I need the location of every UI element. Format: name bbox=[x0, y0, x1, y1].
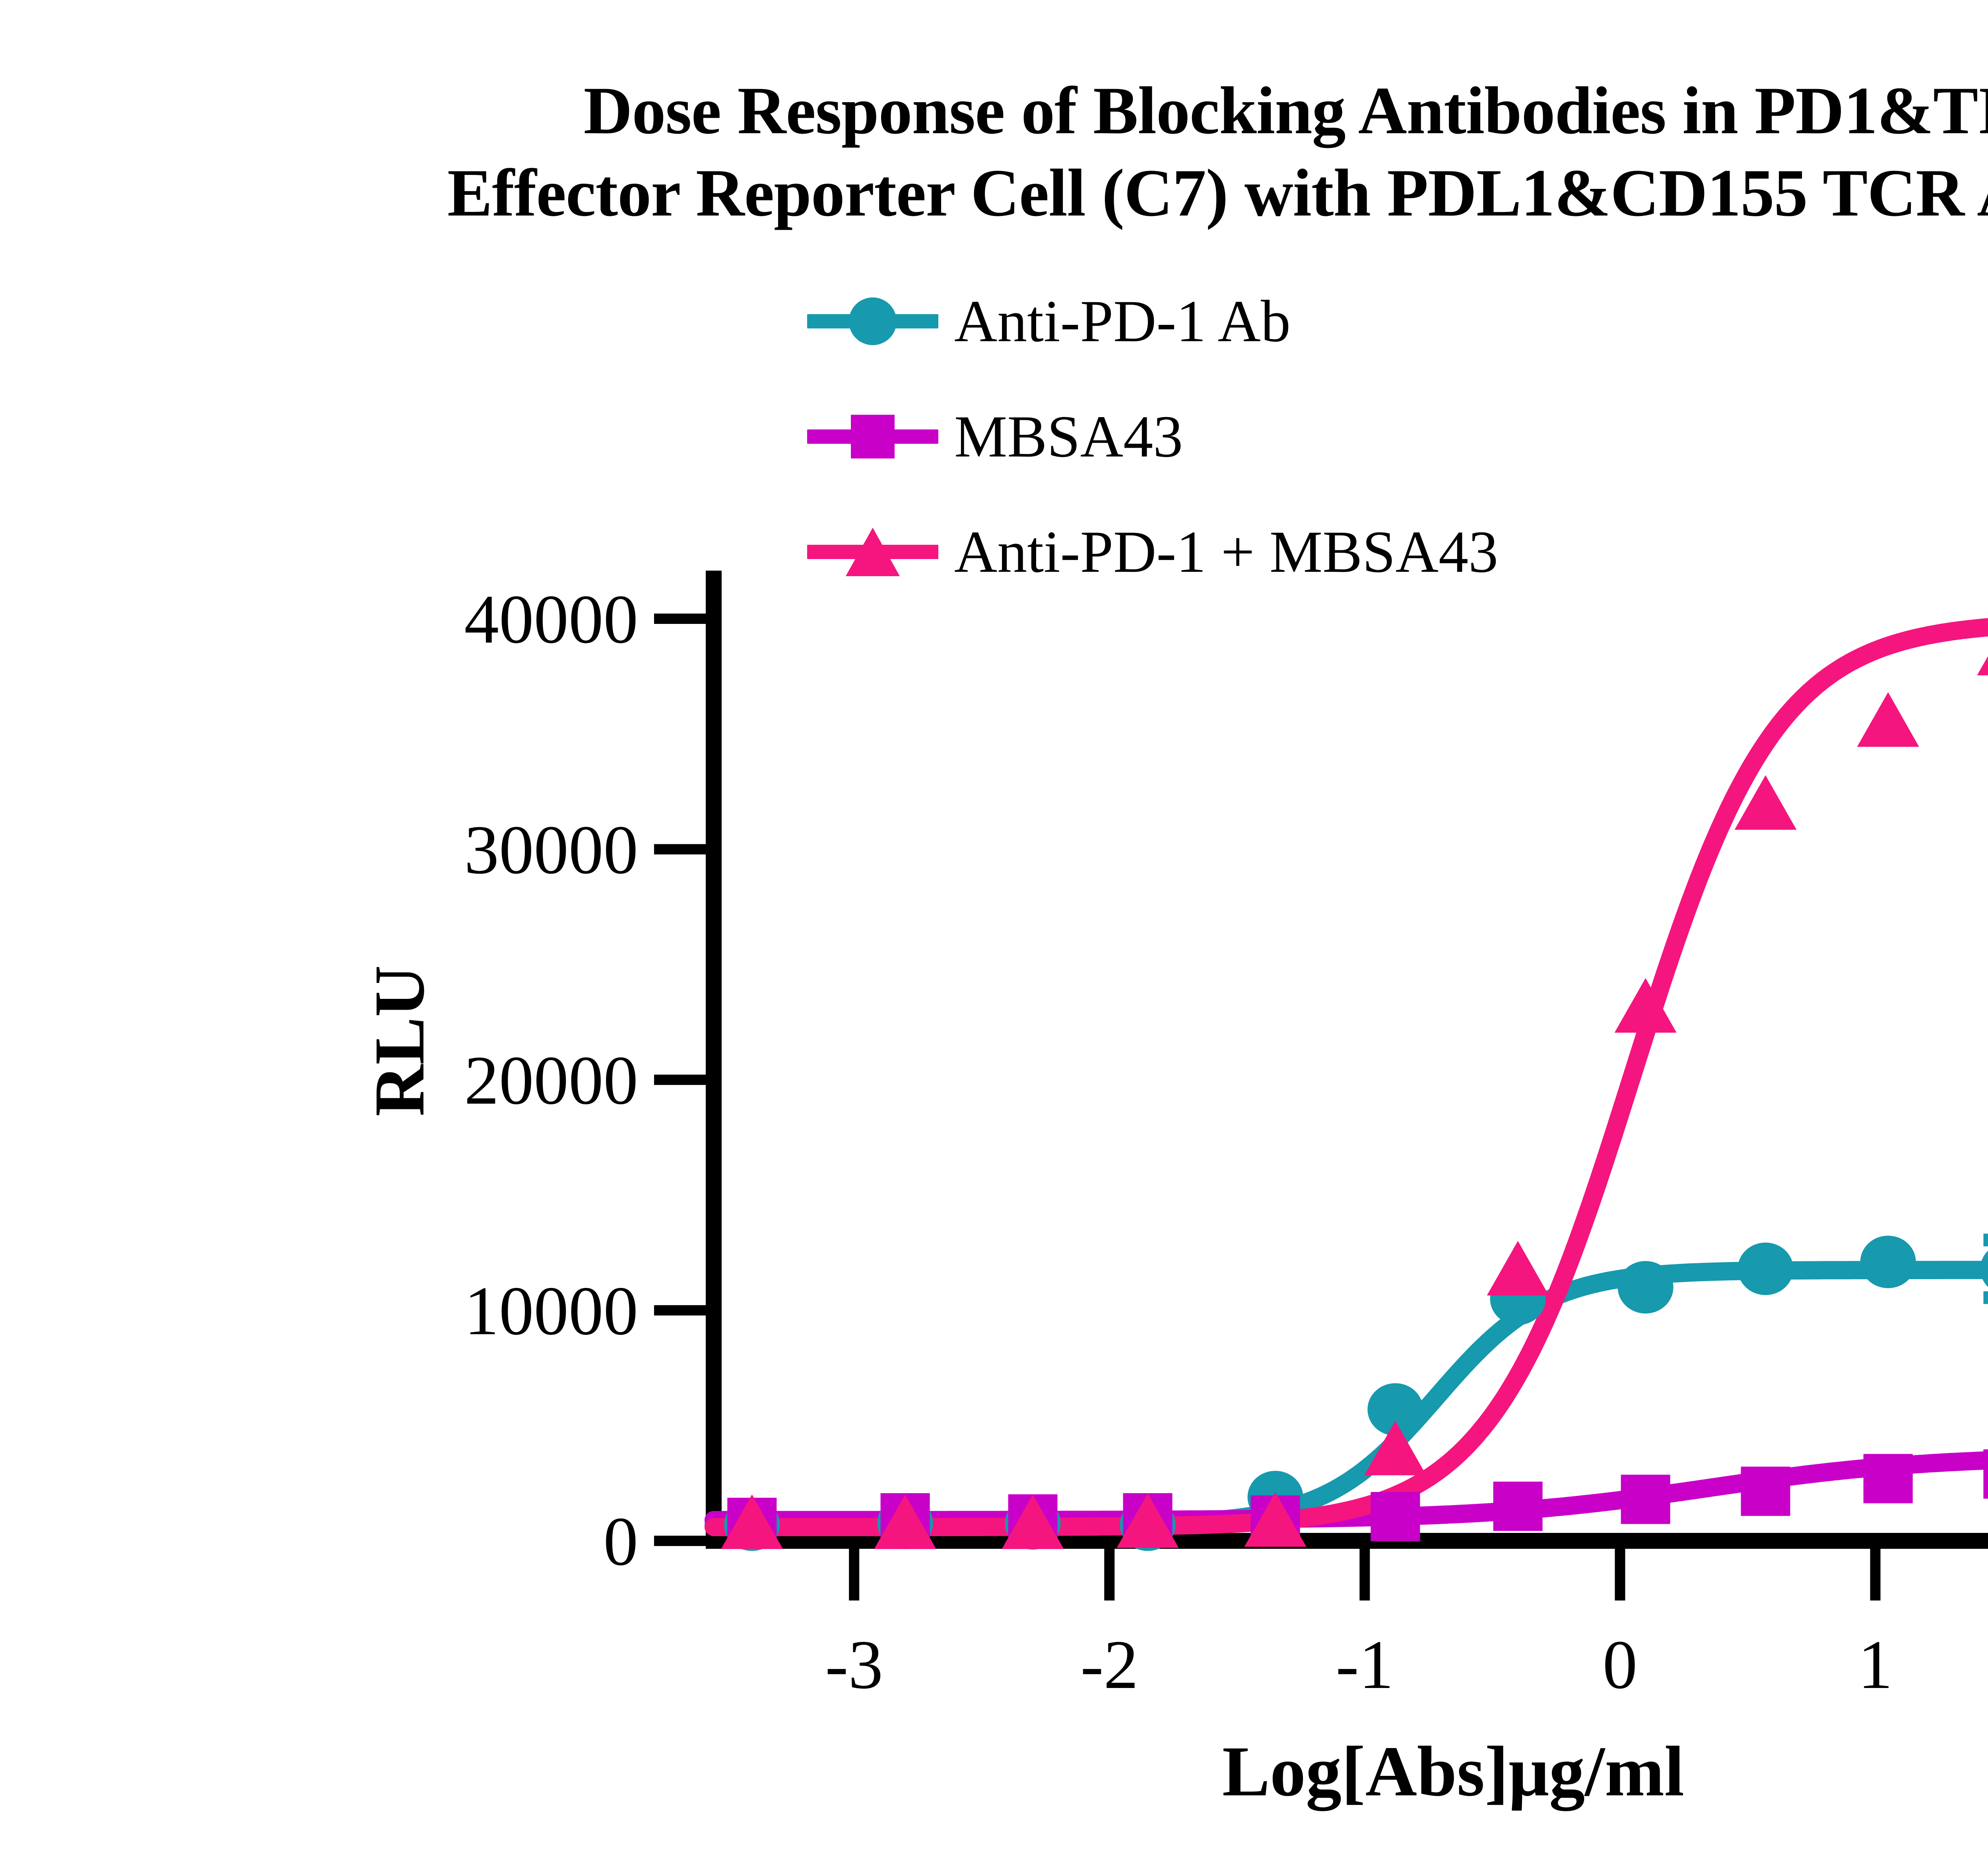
x-axis-tick-label: -3 bbox=[825, 1626, 883, 1703]
data-point-circle[interactable] bbox=[1618, 1261, 1673, 1313]
data-point-triangle[interactable] bbox=[1857, 692, 1919, 747]
data-point-circle[interactable] bbox=[1980, 1243, 1988, 1295]
y-axis-tick-label: 10000 bbox=[464, 1272, 639, 1349]
y-axis-tick-label: 20000 bbox=[464, 1041, 639, 1119]
chart-svg: 010000200003000040000-3-2-1012Log[Abs]μg… bbox=[0, 0, 1988, 1853]
x-axis-tick-label: 0 bbox=[1603, 1626, 1638, 1703]
series-fit-curve bbox=[714, 1270, 1988, 1525]
y-axis-tick-label: 40000 bbox=[464, 581, 639, 658]
data-point-circle[interactable] bbox=[1738, 1243, 1793, 1295]
data-point-circle[interactable] bbox=[1860, 1235, 1916, 1288]
x-axis-tick-label: -1 bbox=[1336, 1626, 1394, 1703]
data-point-square[interactable] bbox=[1371, 1492, 1420, 1541]
data-point-triangle[interactable] bbox=[1487, 1241, 1549, 1296]
y-axis-tick-label: 0 bbox=[604, 1503, 639, 1580]
data-point-square[interactable] bbox=[1621, 1475, 1670, 1524]
data-point-square[interactable] bbox=[1741, 1466, 1790, 1516]
x-axis-title: Log[Abs]μg/ml bbox=[1222, 1732, 1684, 1811]
series-fit-curve bbox=[714, 622, 1988, 1527]
data-point-square[interactable] bbox=[1493, 1482, 1543, 1531]
plot-area: 010000200003000040000-3-2-1012Log[Abs]μg… bbox=[0, 0, 1988, 1853]
x-axis-tick-label: 1 bbox=[1858, 1626, 1893, 1703]
y-axis-title: RLU bbox=[360, 965, 439, 1116]
data-point-square[interactable] bbox=[1864, 1454, 1913, 1503]
x-axis-tick-label: -2 bbox=[1080, 1626, 1138, 1703]
data-point-square[interactable] bbox=[1983, 1449, 1988, 1499]
y-axis-tick-label: 30000 bbox=[464, 811, 639, 888]
figure-root: Dose Response of Blocking Antibodies in … bbox=[0, 0, 1988, 1853]
